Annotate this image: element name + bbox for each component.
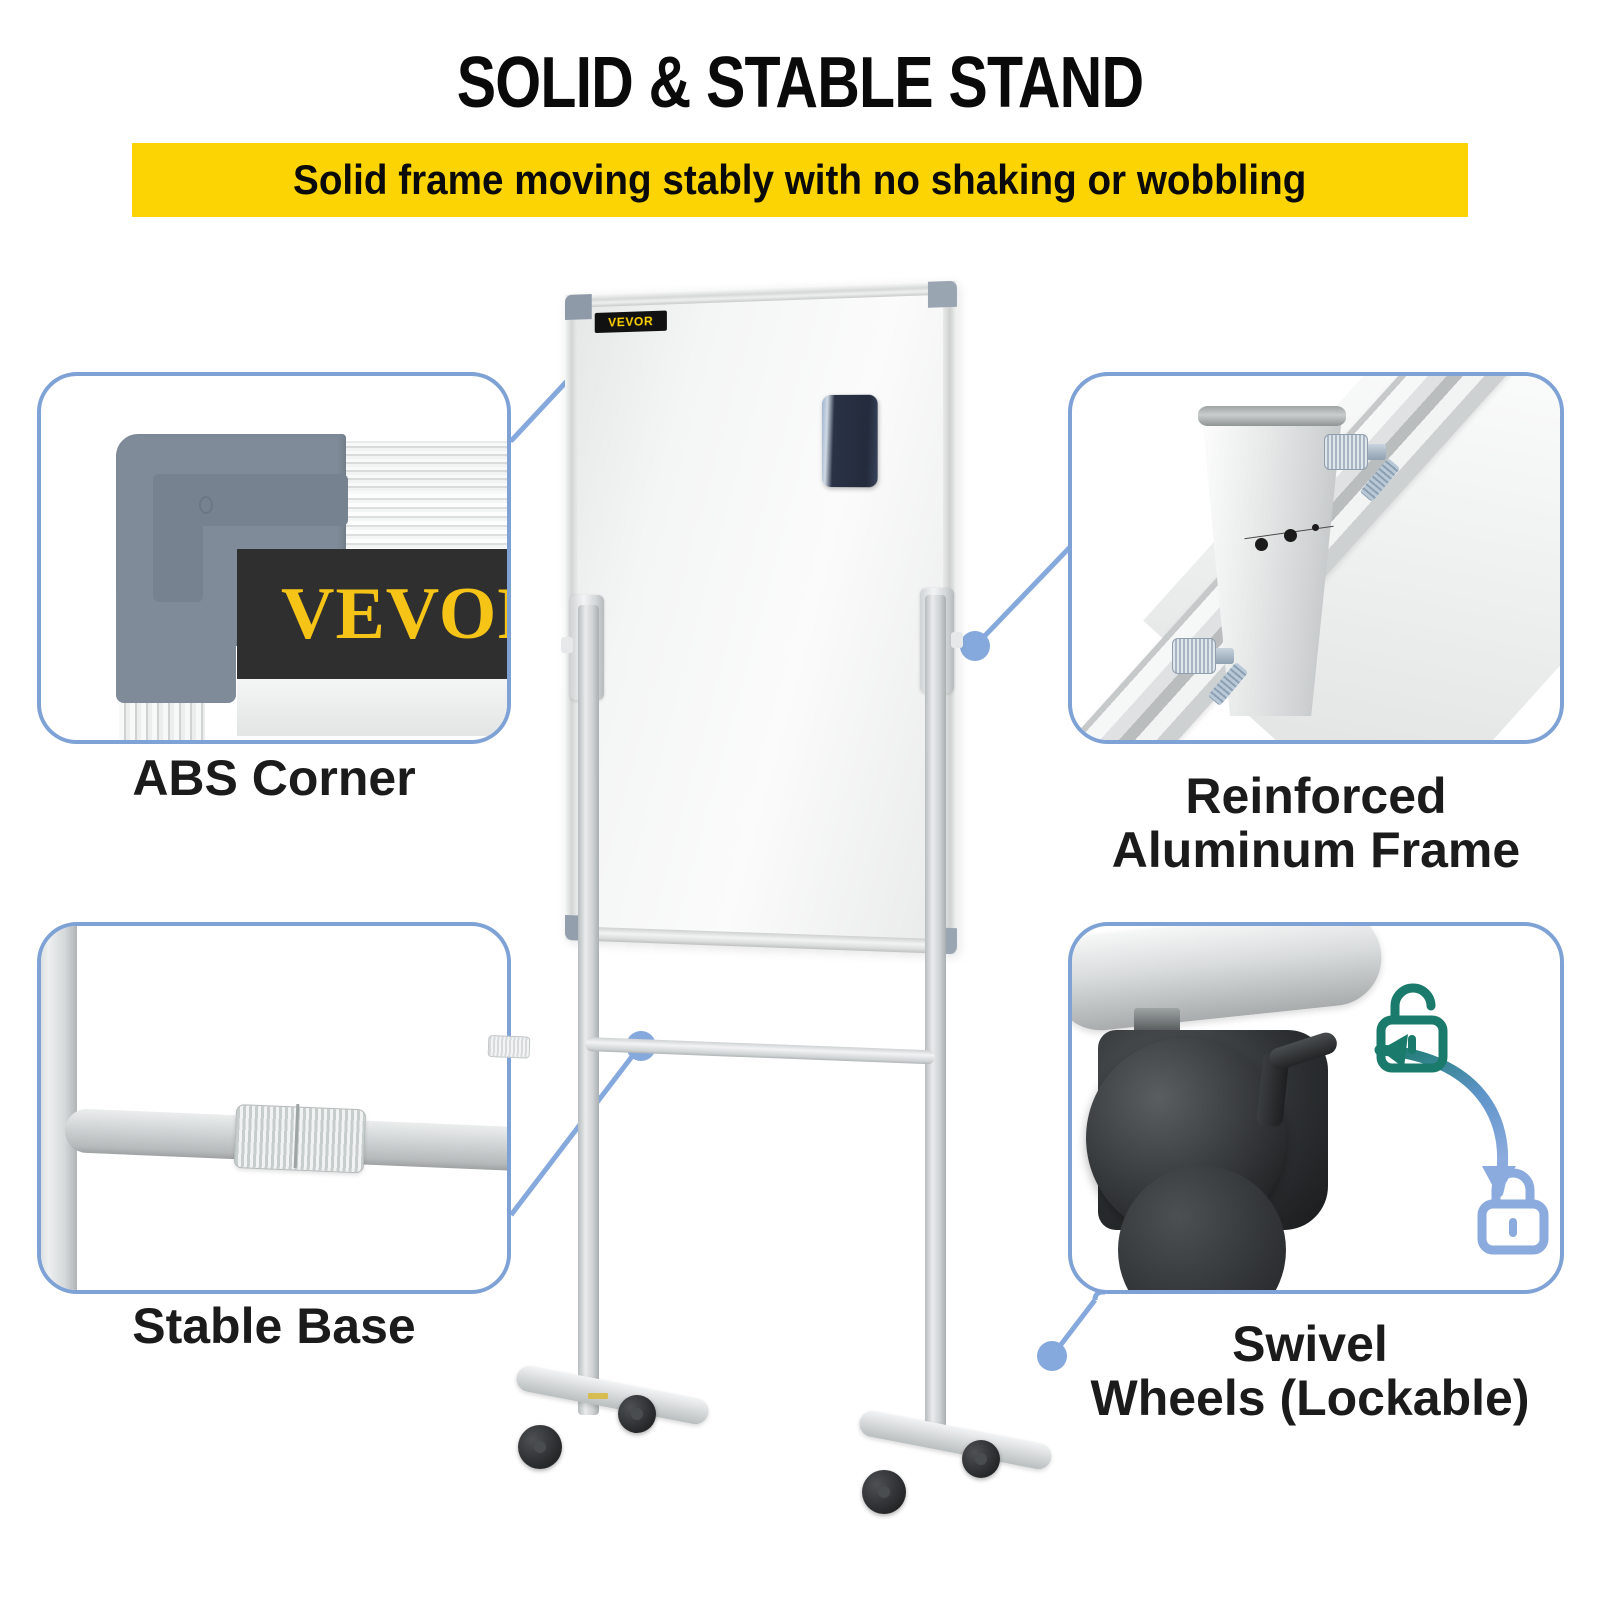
vent-hole-icon [1312, 524, 1319, 531]
clamp-knob-icon [951, 632, 963, 648]
screw-head [1172, 638, 1216, 674]
screw-head [1324, 434, 1368, 470]
screw-neck [1214, 648, 1234, 664]
stand-post-left [578, 605, 599, 1415]
post-cap-icon [1198, 406, 1346, 426]
caster-wheel-icon [962, 1440, 1000, 1478]
product-whiteboard-stand: VEVOR [470, 295, 1130, 1495]
abs-corner-icon [565, 294, 592, 320]
base-foot-right [857, 1409, 1053, 1472]
caster-wheel-icon [862, 1470, 906, 1514]
callout-label-stable-base: Stable Base [37, 1300, 511, 1354]
padlock-open-icon [1367, 980, 1459, 1076]
vent-hole-icon [1284, 529, 1297, 542]
vevor-logo-tag: VEVOR [595, 311, 667, 334]
stand-post-right [925, 595, 946, 1435]
padlock-closed-icon [1468, 1162, 1560, 1258]
swivel-wheel-photo [1072, 926, 1560, 1290]
foot-brand-sticker [588, 1393, 608, 1399]
whiteboard-surface [578, 295, 943, 940]
wheel-hub-icon [975, 1453, 987, 1465]
vevor-logo-text: VEVOR [608, 314, 653, 330]
whiteboard-frame: VEVOR [565, 281, 957, 955]
threaded-sleeve-icon [234, 1104, 367, 1173]
callout-swivel-wheels [1068, 922, 1564, 1294]
screw-neck [1366, 444, 1386, 460]
callout-reinforced-aluminum-frame [1068, 372, 1564, 744]
wheel-hub-icon [1118, 1166, 1286, 1294]
vent-hole-icon [1255, 538, 1268, 551]
crossbar-adjuster-icon [488, 1035, 531, 1059]
aluminum-frame-photo [1072, 376, 1560, 740]
clamp-knob-icon [561, 637, 573, 653]
wheel-hub-icon [631, 1408, 643, 1420]
magnetic-eraser-icon [822, 395, 878, 488]
stable-base-photo [41, 926, 507, 1290]
abs-corner-icon [928, 281, 957, 308]
caster-wheel-icon [618, 1395, 656, 1433]
subtitle-banner: Solid frame moving stably with no shakin… [132, 143, 1468, 217]
callout-label-abs-corner: ABS Corner [37, 752, 511, 806]
abs-corner-leg-icon [116, 591, 236, 703]
wheel-hub-icon [534, 1441, 546, 1453]
subtitle-text: Solid frame moving stably with no shakin… [293, 156, 1306, 204]
abs-corner-groove-vert-icon [153, 474, 203, 602]
abs-corner-pin-icon [199, 496, 213, 514]
callout-stable-base [37, 922, 511, 1294]
stand-crossbar [585, 1037, 935, 1064]
base-foot-left [514, 1364, 710, 1427]
callout-abs-corner: VEVOR [37, 372, 511, 744]
page-title: SOLID & STABLE STAND [144, 42, 1456, 124]
caster-wheel-icon [518, 1425, 562, 1469]
vertical-post-icon [37, 922, 77, 1294]
wheel-hub-icon [878, 1486, 890, 1498]
abs-corner-photo: VEVOR [41, 376, 507, 740]
